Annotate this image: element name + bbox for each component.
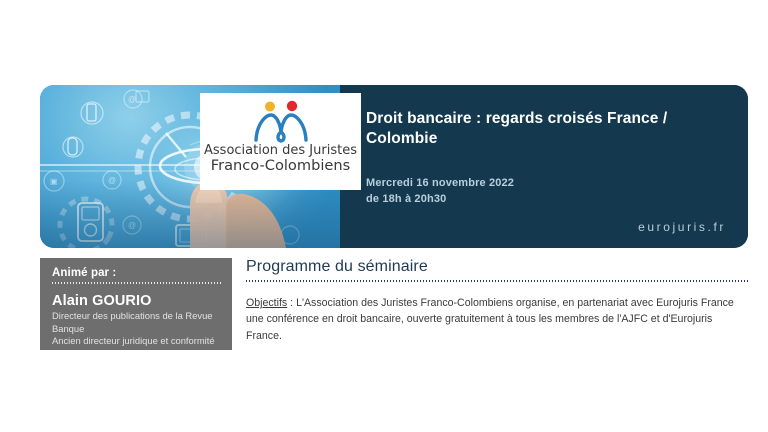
program-section: Programme du séminaire Objectifs : L'Ass…: [246, 258, 748, 344]
objectives-separator: :: [287, 297, 296, 309]
header-banner: @ @ @ ▣ Droit bancaire : regards croisés…: [40, 85, 748, 248]
event-title: Droit bancaire : regards croisés France …: [366, 109, 721, 150]
speaker-divider: [52, 282, 222, 284]
speaker-role-line3: Ancien directeur juridique et conformité: [52, 335, 222, 348]
ajfc-logo-card: Association des Juristes Franco-Colombie…: [200, 93, 361, 190]
speaker-role-line2: Banque: [52, 323, 222, 336]
program-divider: [246, 280, 748, 282]
speaker-role-line1: Directeur des publications de la Revue: [52, 310, 222, 323]
speaker-label: Animé par :: [52, 267, 222, 282]
svg-text:@: @: [128, 95, 136, 104]
speaker-role: Directeur des publications de la Revue B…: [52, 310, 222, 348]
svg-text:▣: ▣: [50, 177, 58, 186]
speaker-name: Alain GOURIO: [52, 293, 222, 309]
objectives-label: Objectifs: [246, 297, 287, 309]
logo-text-line2: Franco-Colombiens: [211, 158, 350, 173]
program-heading: Programme du séminaire: [246, 258, 748, 280]
event-time: de 18h à 20h30: [366, 192, 748, 208]
event-date: Mercredi 16 novembre 2022: [366, 176, 748, 192]
svg-text:@: @: [128, 221, 136, 230]
logo-text-line1: Association des Juristes: [204, 144, 357, 158]
hand-pointing: [190, 181, 286, 248]
ajfc-logo-icon: [247, 99, 315, 143]
event-datetime: Mercredi 16 novembre 2022 de 18h à 20h30: [366, 176, 748, 208]
eurojuris-brand: eurojuris.fr: [638, 220, 726, 234]
poster-page: @ @ @ ▣ Droit bancaire : regards croisés…: [0, 0, 768, 432]
svg-text:@: @: [108, 176, 116, 185]
objectives-paragraph: Objectifs : L'Association des Juristes F…: [246, 295, 748, 344]
speaker-panel: Animé par : Alain GOURIO Directeur des p…: [40, 258, 232, 350]
banner-text-area: Droit bancaire : regards croisés France …: [340, 85, 748, 248]
objectives-text: L'Association des Juristes Franco-Colomb…: [246, 297, 734, 342]
